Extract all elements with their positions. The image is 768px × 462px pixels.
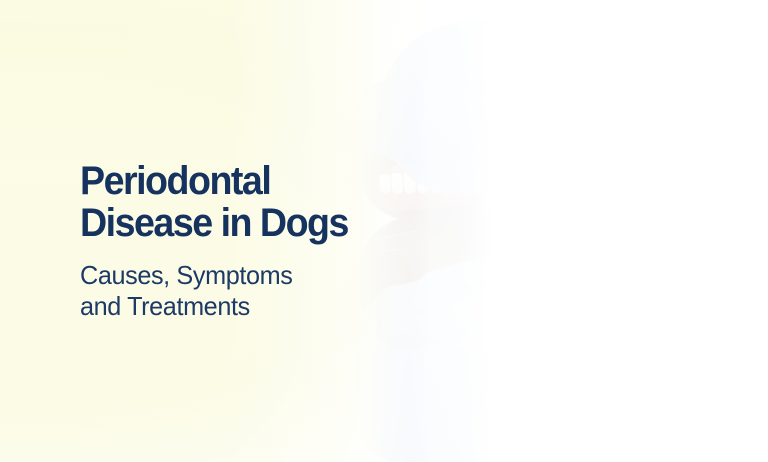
page-title: Periodontal Disease in Dogs — [80, 160, 390, 244]
article-hero-banner: Periodontal Disease in Dogs Causes, Symp… — [0, 0, 768, 462]
page-subtitle: Causes, Symptoms and Treatments — [80, 260, 400, 322]
hero-text-block: Periodontal Disease in Dogs Causes, Symp… — [80, 160, 410, 322]
